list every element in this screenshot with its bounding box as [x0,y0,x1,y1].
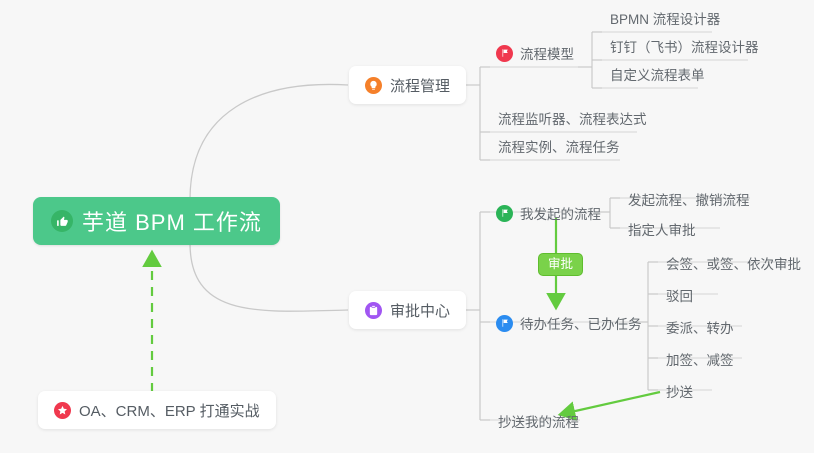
node-dingtalk-feishu-designer-label: 钉钉（飞书）流程设计器 [610,36,759,56]
mindmap-canvas: 芋道 BPM 工作流 OA、CRM、ERP 打通实战 流程管理 流程模型 BPM… [0,0,814,453]
connector-root-to-approval-center [190,243,348,311]
branch-approval-center[interactable]: 审批中心 [349,291,466,329]
node-todo-done-tasks[interactable]: 待办任务、已办任务 [492,308,652,338]
node-assignee-approval[interactable]: 指定人审批 [622,214,706,244]
node-start-cancel-process[interactable]: 发起流程、撤销流程 [622,184,760,214]
thumbs-up-icon [51,210,73,232]
branch-process-management[interactable]: 流程管理 [349,66,466,104]
root-node[interactable]: 芋道 BPM 工作流 [33,197,280,245]
relation-tag-approval[interactable]: 审批 [538,253,583,276]
node-countersign-label: 会签、或签、依次审批 [666,253,801,273]
branch-process-management-label: 流程管理 [390,75,450,96]
clipboard-icon [365,302,382,319]
node-my-initiated-process-label: 我发起的流程 [520,203,601,223]
connector-root-to-process-management [190,84,348,200]
node-countersign-or-sign-sequential[interactable]: 会签、或签、依次审批 [660,248,811,278]
root-label: 芋道 BPM 工作流 [82,205,262,237]
lightbulb-icon [365,77,382,94]
node-reject[interactable]: 驳回 [660,280,703,310]
node-bpmn-designer[interactable]: BPMN 流程设计器 [604,3,730,33]
node-add-remove-sign[interactable]: 加签、减签 [660,344,744,374]
node-dingtalk-feishu-designer[interactable]: 钉钉（飞书）流程设计器 [604,31,769,61]
node-delegate-transfer-label: 委派、转办 [666,317,734,337]
flag-icon [496,45,513,62]
branch-approval-center-label: 审批中心 [390,300,450,321]
node-process-listener-expression-label: 流程监听器、流程表达式 [498,108,647,128]
node-cc-label: 抄送 [666,381,693,401]
node-cc[interactable]: 抄送 [660,376,703,406]
node-custom-process-form[interactable]: 自定义流程表单 [604,59,715,89]
node-add-remove-sign-label: 加签、减签 [666,349,734,369]
node-reject-label: 驳回 [666,285,693,305]
node-cc-to-me-process-label: 抄送我的流程 [498,411,579,431]
node-start-cancel-process-label: 发起流程、撤销流程 [628,189,750,209]
node-process-listener-expression[interactable]: 流程监听器、流程表达式 [492,103,657,133]
detached-node-label: OA、CRM、ERP 打通实战 [79,400,260,421]
node-cc-to-me-process[interactable]: 抄送我的流程 [492,406,589,436]
node-process-model-label: 流程模型 [520,43,574,63]
node-process-instance-task[interactable]: 流程实例、流程任务 [492,131,630,161]
node-bpmn-designer-label: BPMN 流程设计器 [610,8,720,28]
flag-icon [496,205,513,222]
detached-node-oa-crm-erp[interactable]: OA、CRM、ERP 打通实战 [38,391,276,429]
node-my-initiated-process[interactable]: 我发起的流程 [492,198,611,228]
node-delegate-transfer[interactable]: 委派、转办 [660,312,744,342]
node-process-instance-task-label: 流程实例、流程任务 [498,136,620,156]
node-todo-done-tasks-label: 待办任务、已办任务 [520,313,642,333]
node-custom-process-form-label: 自定义流程表单 [610,64,705,84]
node-assignee-approval-label: 指定人审批 [628,219,696,239]
node-process-model[interactable]: 流程模型 [492,38,584,68]
star-icon [54,402,71,419]
flag-icon [496,315,513,332]
